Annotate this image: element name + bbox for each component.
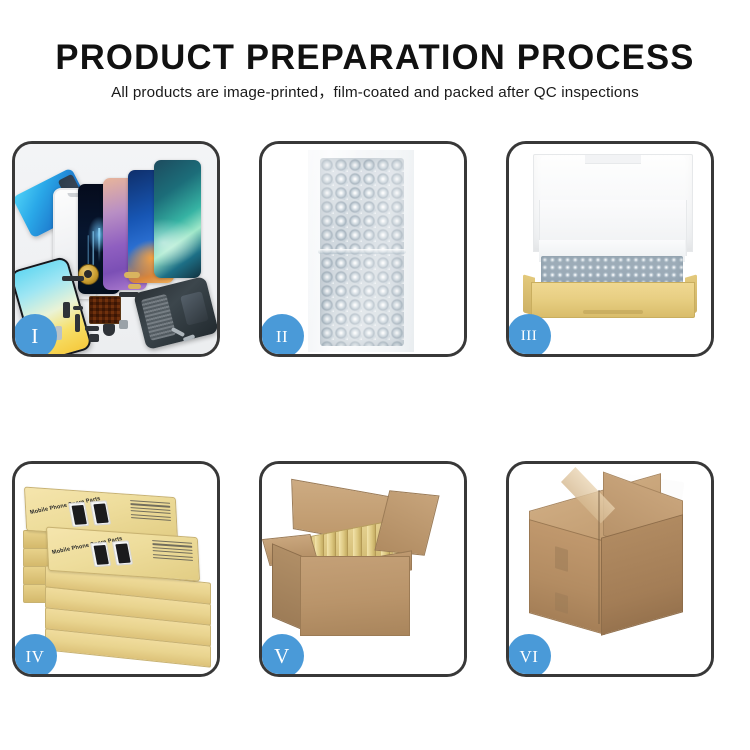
process-step-6: VI [506,461,714,677]
small-part-icon [62,276,84,281]
spec-lines [152,540,193,563]
step-badge-6: VI [507,634,551,677]
bubble-wrapped-contents-icon [541,256,683,284]
screen-print-icon [90,542,111,567]
small-part-icon [73,306,83,310]
spec-lines [130,500,171,523]
carton-edge-seam [598,490,600,624]
speaker-coil-icon [78,264,99,285]
screen-print-icon [112,540,133,565]
step-badge-2: II [260,314,304,357]
process-step-3: III [506,141,714,357]
phone-back-housing-icon [133,276,219,350]
step-badge-1: I [13,314,57,357]
small-part-icon [119,320,128,329]
plastic-sheen [308,150,414,352]
carton-tab [555,546,568,572]
step-badge-5: V [260,634,304,677]
carton-tab [555,592,568,614]
small-part-icon [89,334,99,342]
small-part-icon [75,314,80,332]
retail-box-stack: Mobile Phone Spare Parts Mobile Phone Sp… [23,482,213,664]
small-part-icon [119,292,139,297]
step-badge-4: IV [13,634,57,677]
carton-body [300,556,410,636]
step-badge-3: III [507,314,551,357]
small-part-icon [128,284,141,289]
small-part-icon [85,326,99,331]
infographic-page: PRODUCT PREPARATION PROCESS All products… [0,0,750,750]
screen-print-icon [90,500,111,525]
phone-teal-icon [154,160,201,278]
process-step-1: I [12,141,220,357]
process-step-2: II [259,141,467,357]
process-step-grid: I II III [0,0,750,750]
screen-print-icon [68,502,89,527]
process-step-4: Mobile Phone Spare Parts Mobile Phone Sp… [12,461,220,677]
small-part-icon [124,272,140,278]
chip-array-icon [89,296,121,324]
kraft-box-front [531,282,695,318]
small-part-icon [63,302,70,318]
small-part-icon [103,324,115,336]
process-step-5: V [259,461,467,677]
